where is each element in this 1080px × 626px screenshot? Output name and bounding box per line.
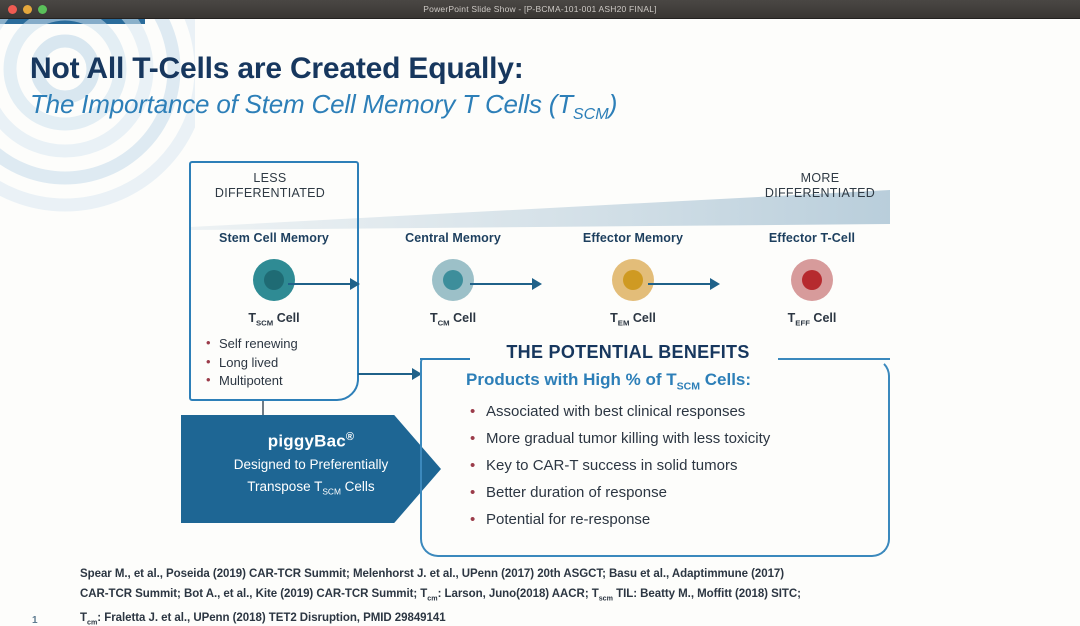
slide-canvas: Not All T-Cells are Created Equally: The… [0,19,1080,626]
piggybac-line2-post: Cells [341,479,375,494]
t-em-nucleus-icon [623,270,643,290]
benefits-sub-post: Cells: [700,370,751,389]
connector-line [262,401,264,417]
stage-name-scm: Stem Cell Memory [189,231,359,245]
piggybac-line2: Transpose TSCM Cells [181,477,441,502]
arrow-to-benefits-icon [358,368,422,380]
stage-effector-t-cell: Effector T-Cell TEFF Cell [727,231,897,328]
benefits-subheading: Products with High % of TSCM Cells: [466,370,751,392]
cell-label-eff-sub: EFF [795,319,810,328]
more-diff-line1: MORE [801,171,840,185]
cell-label-em-sub: EM [618,319,630,328]
stage-name-em: Effector Memory [548,231,718,245]
benefits-rule-left [420,358,470,360]
minimize-window-icon[interactable] [23,5,32,14]
maximize-window-icon[interactable] [38,5,47,14]
list-item: Associated with best clinical responses [470,398,870,425]
arrow-scm-to-cm-icon [288,278,360,290]
cell-label-em-pre: T [610,311,618,325]
cell-label-scm-pre: T [248,311,256,325]
t-scm-nucleus-icon [264,270,284,290]
more-diff-line2: DIFFERENTIATED [765,186,875,200]
subtitle-text-end: ) [609,89,617,119]
arrow-cm-to-em-icon [470,278,542,290]
list-item: Potential for re-response [470,506,870,533]
t-cm-cell-icon [432,259,474,301]
piggybac-line1: Designed to Preferentially [181,455,441,474]
cell-label-scm: TSCM Cell [189,311,359,328]
t-eff-nucleus-icon [802,270,822,290]
cell-label-cm-post: Cell [450,311,476,325]
piggybac-line2-sub: SCM [322,486,341,496]
reference-line: CAR-TCR Summit; Bot A., et al., Kite (20… [80,584,1010,608]
benefits-sub-pre: Products with High % of T [466,370,677,389]
more-differentiated-label: MORE DIFFERENTIATED [745,171,895,201]
cell-label-cm: TCM Cell [368,311,538,328]
benefits-sub-sub: SCM [677,380,700,392]
powerpoint-slideshow-window: PowerPoint Slide Show - [P-BCMA-101-001 … [0,0,1080,626]
t-cm-nucleus-icon [443,270,463,290]
list-item: Self renewing [206,335,351,354]
list-item: Multipotent [206,372,351,391]
cell-label-eff-post: Cell [810,311,836,325]
list-item: Better duration of response [470,479,870,506]
piggybac-title: piggyBac® [181,431,441,452]
stage-name-cm: Central Memory [368,231,538,245]
list-item: More gradual tumor killing with less tox… [470,425,870,452]
cell-label-cm-sub: CM [438,319,450,328]
subtitle-subscript: SCM [573,105,609,123]
window-controls[interactable] [8,5,47,14]
arrow-em-to-eff-icon [648,278,720,290]
piggybac-line2-pre: Transpose T [247,479,322,494]
subtitle-text-main: The Importance of Stem Cell Memory T Cel… [30,89,573,119]
references-block: Spear M., et al., Poseida (2019) CAR-TCR… [80,564,1010,626]
slide-number: 1 [32,615,38,626]
benefits-list: Associated with best clinical responses … [470,398,870,533]
registered-trademark-icon: ® [346,431,354,443]
stage-name-eff: Effector T-Cell [727,231,897,245]
page-title: Not All T-Cells are Created Equally: [30,52,523,86]
page-subtitle: The Importance of Stem Cell Memory T Cel… [30,89,617,124]
reference-line: Spear M., et al., Poseida (2019) CAR-TCR… [80,564,1010,584]
reference-line: Tcm: Fraletta J. et al., UPenn (2018) TE… [80,608,1010,626]
cell-label-scm-post: Cell [273,311,299,325]
window-title: PowerPoint Slide Show - [P-BCMA-101-001 … [0,4,1080,14]
t-eff-cell-icon [791,259,833,301]
piggybac-callout-banner: piggyBac® Designed to Preferentially Tra… [181,415,441,523]
cell-label-em-post: Cell [629,311,655,325]
cell-label-em: TEM Cell [548,311,718,328]
cell-label-scm-sub: SCM [256,319,273,328]
stem-cell-properties-list: Self renewing Long lived Multipotent [206,335,351,391]
window-title-bar: PowerPoint Slide Show - [P-BCMA-101-001 … [0,0,1080,19]
cell-label-eff: TEFF Cell [727,311,897,328]
cell-label-cm-pre: T [430,311,438,325]
list-item: Key to CAR-T success in solid tumors [470,452,870,479]
piggybac-title-text: piggyBac [268,432,346,451]
close-window-icon[interactable] [8,5,17,14]
list-item: Long lived [206,354,351,373]
benefits-heading: THE POTENTIAL BENEFITS [478,342,778,363]
